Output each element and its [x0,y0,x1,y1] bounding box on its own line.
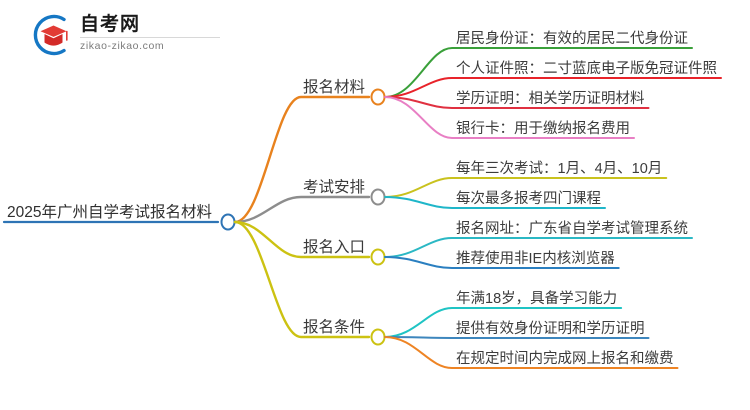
root-node-label[interactable]: 2025年广州自学考试报名材料 [7,203,212,223]
leaf-node-label-0-0[interactable]: 居民身份证：有效的居民二代身份证 [456,29,688,49]
branch-node-label-3[interactable]: 报名条件 [303,318,365,338]
branch-node-handle-3[interactable] [372,330,385,345]
branch-node-handle-0[interactable] [372,90,385,105]
branch-node-handle-1[interactable] [372,190,385,205]
branch-node-label-2[interactable]: 报名入口 [303,238,365,258]
leaf-node-label-3-0[interactable]: 年满18岁，具备学习能力 [456,289,617,309]
branch-node-handle-2[interactable] [372,250,385,265]
leaf-node-label-1-0[interactable]: 每年三次考试：1月、4月、10月 [456,159,662,179]
mindmap-canvas: 2025年广州自学考试报名材料报名材料居民身份证：有效的居民二代身份证个人证件照… [0,0,750,410]
leaf-node-label-2-0[interactable]: 报名网址：广东省自学考试管理系统 [456,219,688,239]
leaf-node-label-2-1[interactable]: 推荐使用非IE内核浏览器 [456,249,615,269]
leaf-node-label-3-1[interactable]: 提供有效身份证明和学历证明 [456,319,645,339]
root-node-handle[interactable] [222,215,235,230]
leaf-node-label-0-1[interactable]: 个人证件照：二寸蓝底电子版免冠证件照 [456,59,717,79]
leaf-node-label-0-2[interactable]: 学历证明：相关学历证明材料 [456,89,645,109]
branch-node-label-0[interactable]: 报名材料 [303,78,365,98]
branch-node-label-1[interactable]: 考试安排 [303,178,365,198]
leaf-node-label-3-2[interactable]: 在规定时间内完成网上报名和缴费 [456,349,674,369]
leaf-node-label-1-1[interactable]: 每次最多报考四门课程 [456,189,601,209]
branch-edge-0 [235,97,369,222]
leaf-node-label-0-3[interactable]: 银行卡：用于缴纳报名费用 [456,119,630,139]
